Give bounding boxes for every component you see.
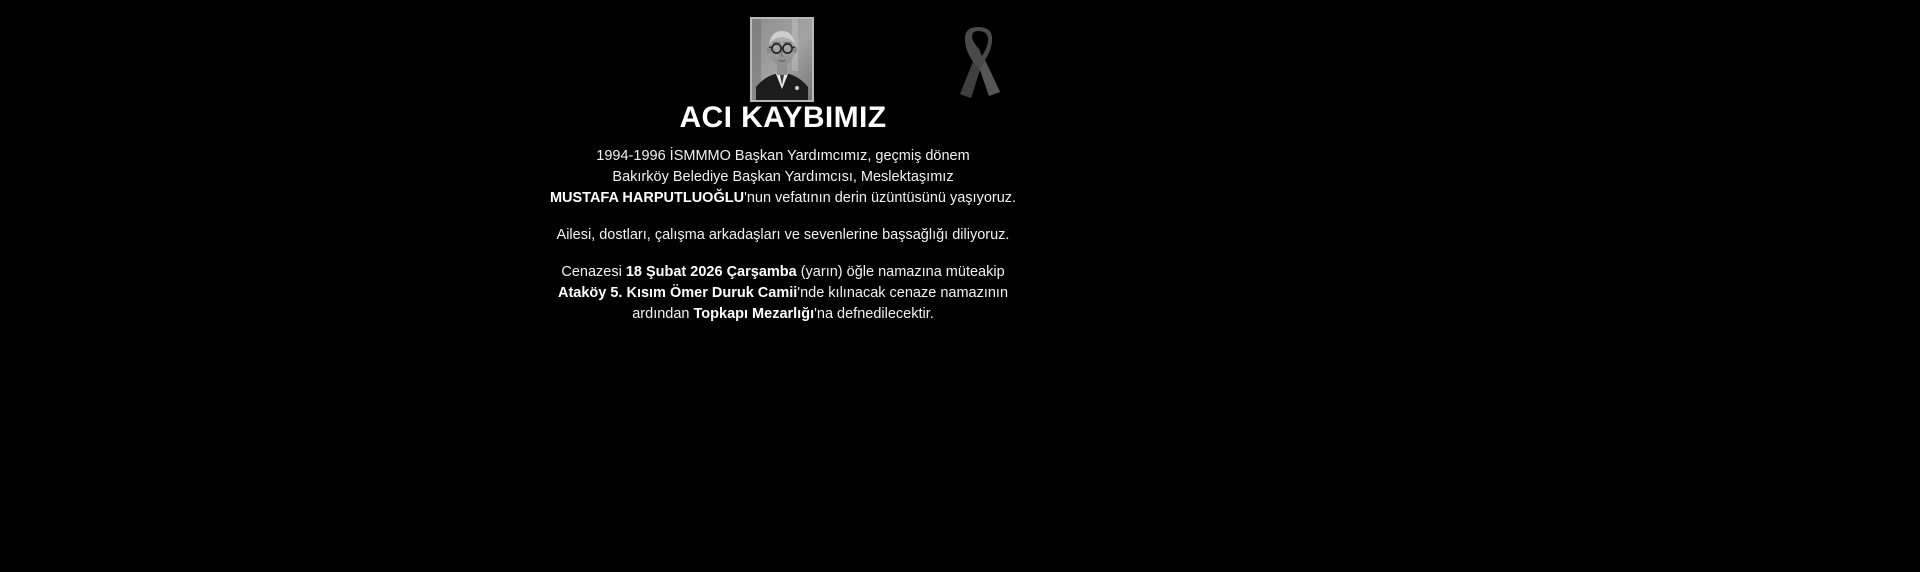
cemetery-name: Topkapı Mezarlığı (694, 306, 815, 322)
portrait-photo (750, 17, 814, 102)
cemetery-post: 'na defnedilecektir. (814, 306, 934, 322)
block-3-line-1: Cenazesi 18 Şubat 2026 Çarşamba (yarın) … (533, 262, 1033, 283)
mosque-post: 'nde kılınacak cenaze namazının (797, 285, 1008, 301)
block-2-line-1: Ailesi, dostları, çalışma arkadaşları ve… (533, 225, 1033, 246)
announcement-block-2: Ailesi, dostları, çalışma arkadaşları ve… (533, 225, 1033, 246)
block-1-line-3-rest: 'nun vefatının derin üzüntüsünü yaşıyoru… (744, 190, 1016, 206)
mourning-ribbon-icon (952, 18, 1004, 100)
portrait-photo-icon (752, 19, 812, 100)
announcement-block-3: Cenazesi 18 Şubat 2026 Çarşamba (yarın) … (533, 262, 1033, 325)
funeral-post: (yarın) öğle namazına müteakip (797, 264, 1005, 280)
funeral-date: 18 Şubat 2026 Çarşamba (626, 264, 797, 280)
block-1-line-2: Bakırköy Belediye Başkan Yardımcısı, Mes… (533, 167, 1033, 188)
memorial-notice: ACI KAYBIMIZ 1994-1996 İSMMMO Başkan Yar… (0, 0, 1920, 572)
announcement-content: ACI KAYBIMIZ 1994-1996 İSMMMO Başkan Yar… (533, 98, 1033, 325)
announcement-block-1: 1994-1996 İSMMMO Başkan Yardımcımız, geç… (533, 146, 1033, 209)
ribbon-shape (952, 18, 1004, 100)
mosque-name: Ataköy 5. Kısım Ömer Duruk Camii (558, 285, 797, 301)
funeral-pre: Cenazesi (561, 264, 625, 280)
block-3-line-2: Ataköy 5. Kısım Ömer Duruk Camii'nde kıl… (533, 283, 1033, 304)
graphics-row (0, 0, 1920, 110)
cemetery-pre: ardından (632, 306, 693, 322)
block-1-line-3: MUSTAFA HARPUTLUOĞLU'nun vefatının derin… (533, 188, 1033, 209)
block-3-line-3: ardından Topkapı Mezarlığı'na defnedilec… (533, 304, 1033, 325)
page-title: ACI KAYBIMIZ (533, 98, 1033, 138)
block-1-line-1: 1994-1996 İSMMMO Başkan Yardımcımız, geç… (533, 146, 1033, 167)
deceased-name: MUSTAFA HARPUTLUOĞLU (550, 190, 744, 206)
